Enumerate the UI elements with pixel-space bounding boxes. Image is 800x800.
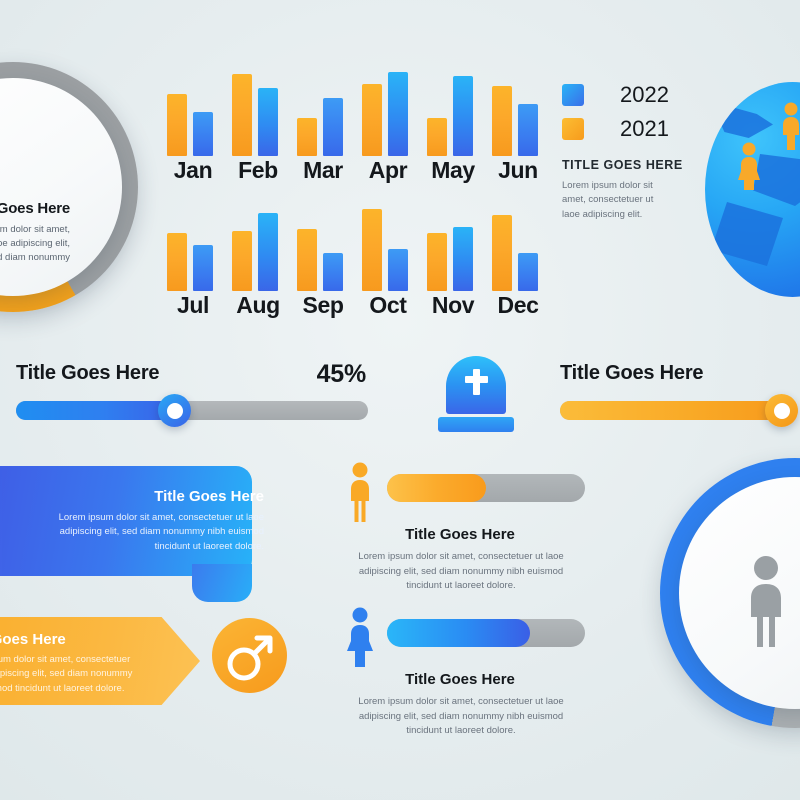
bar-label-aug: Aug <box>230 292 286 319</box>
slider-left-track[interactable] <box>16 401 368 420</box>
bar-2021-feb[interactable] <box>232 74 252 156</box>
bar-pair <box>295 199 351 291</box>
bar-chart-row-first-half: JanFebMarAprMayJun <box>165 62 555 182</box>
tombstone-base <box>438 417 514 432</box>
bar-pair <box>230 64 286 156</box>
legend-label-2021: 2021 <box>620 116 669 142</box>
infographic-canvas: Title Goes Here Lorem ipsum dolor sit am… <box>0 0 800 800</box>
bar-label-nov: Nov <box>425 292 481 319</box>
bar-2022-apr[interactable] <box>388 72 408 156</box>
bar-2022-feb[interactable] <box>258 88 278 156</box>
bar-2021-jul[interactable] <box>167 233 187 291</box>
bar-pair <box>165 64 221 156</box>
bar-pair <box>425 64 481 156</box>
globe-person-2-icon <box>777 102 800 150</box>
slider-left-thumb-dot <box>167 403 183 419</box>
bar-pair <box>425 199 481 291</box>
slider-right-thumb-dot <box>774 403 790 419</box>
bar-2021-mar[interactable] <box>297 118 317 156</box>
progress-bar-female-fill <box>387 619 530 647</box>
slider-right-block: Title Goes Here <box>548 360 798 430</box>
bar-2021-jan[interactable] <box>167 94 187 156</box>
left-donut-paragraph: Lorem ipsum dolor sit amet, consectetuer… <box>0 223 70 264</box>
bar-label-jun: Jun <box>490 157 546 184</box>
globe-person-1-icon <box>735 142 763 190</box>
bar-label-may: May <box>425 157 481 184</box>
bar-group-dec: Dec <box>490 197 546 317</box>
left-donut-chart[interactable]: Title Goes Here Lorem ipsum dolor sit am… <box>0 62 138 312</box>
progress-bar-female-track[interactable] <box>387 619 585 647</box>
slider-right-fill <box>560 401 786 420</box>
blue-banner-paragraph: Lorem ipsum dolor sit amet, consectetuer… <box>48 511 264 554</box>
bar-2021-aug[interactable] <box>232 231 252 291</box>
legend-item-2021[interactable]: 2021 <box>562 112 712 146</box>
legend-heading: TITLE GOES HERE <box>562 158 712 172</box>
bar-label-oct: Oct <box>360 292 416 319</box>
bar-label-sep: Sep <box>295 292 351 319</box>
tombstone-icon <box>438 356 514 432</box>
slider-left-value: 45% <box>317 360 366 389</box>
slider-left-fill <box>16 401 174 420</box>
blue-banner-title: Title Goes Here <box>48 488 264 505</box>
bar-chart-row-second-half: JulAugSepOctNovDec <box>165 197 555 317</box>
bar-group-feb: Feb <box>230 62 286 182</box>
bar-2022-nov[interactable] <box>453 227 473 291</box>
bar-2022-jul[interactable] <box>193 245 213 291</box>
progress-bar-male-fill <box>387 474 486 502</box>
bar-label-jul: Jul <box>165 292 221 319</box>
bar-2022-jun[interactable] <box>518 104 538 156</box>
bar-group-sep: Sep <box>295 197 351 317</box>
slider-left-title: Title Goes Here <box>16 362 159 385</box>
blue-arrow-banner[interactable]: Title Goes Here Lorem ipsum dolor sit am… <box>0 466 282 576</box>
bar-group-aug: Aug <box>230 197 286 317</box>
bar-pair <box>490 199 546 291</box>
bar-2021-oct[interactable] <box>362 209 382 291</box>
bar-pair <box>230 199 286 291</box>
bar-2022-may[interactable] <box>453 76 473 156</box>
bar-2022-oct[interactable] <box>388 249 408 291</box>
bar-2021-may[interactable] <box>427 118 447 156</box>
tombstone-cross-horizontal <box>465 376 488 383</box>
blue-banner-tab <box>192 564 252 602</box>
orange-arrow-banner[interactable]: Title Goes Here Lorem ipsum dolor sit am… <box>0 617 200 705</box>
bar-2022-mar[interactable] <box>323 98 343 156</box>
progress-block-male: Title Goes Here Lorem ipsum dolor sit am… <box>335 462 585 597</box>
legend-copy-block: TITLE GOES HERE Lorem ipsum dolor sit am… <box>562 158 712 222</box>
orange-banner-paragraph: Lorem ipsum dolor sit amet, consectetuer… <box>0 653 136 696</box>
bar-pair <box>490 64 546 156</box>
progress-male-title: Title Goes Here <box>335 526 585 543</box>
bar-2021-jun[interactable] <box>492 86 512 156</box>
bar-group-jun: Jun <box>490 62 546 182</box>
progress-bar-male-track[interactable] <box>387 474 585 502</box>
bar-pair <box>360 199 416 291</box>
progress-female-paragraph: Lorem ipsum dolor sit amet, consectetuer… <box>343 695 579 739</box>
male-figure-icon <box>737 555 795 647</box>
bar-label-apr: Apr <box>360 157 416 184</box>
bar-label-dec: Dec <box>490 292 546 319</box>
left-donut-text: Title Goes Here Lorem ipsum dolor sit am… <box>0 200 70 264</box>
left-donut-title: Title Goes Here <box>0 200 70 217</box>
bar-pair <box>360 64 416 156</box>
bar-group-oct: Oct <box>360 197 416 317</box>
progress-female-title: Title Goes Here <box>335 671 585 688</box>
bar-group-jan: Jan <box>165 62 221 182</box>
bar-2021-apr[interactable] <box>362 84 382 156</box>
progress-male-paragraph: Lorem ipsum dolor sit amet, consectetuer… <box>343 550 579 594</box>
bar-pair <box>165 199 221 291</box>
bar-2021-dec[interactable] <box>492 215 512 291</box>
male-figure-icon <box>343 462 377 522</box>
bar-2022-dec[interactable] <box>518 253 538 291</box>
mars-male-symbol-icon <box>212 618 287 693</box>
legend-item-2022[interactable]: 2022 <box>562 78 712 112</box>
bar-2022-jan[interactable] <box>193 112 213 156</box>
blue-banner-text: Title Goes Here Lorem ipsum dolor sit am… <box>48 488 264 554</box>
orange-banner-text: Title Goes Here Lorem ipsum dolor sit am… <box>0 631 136 696</box>
legend-swatch-orange-icon <box>562 118 584 140</box>
legend-label-2022: 2022 <box>620 82 669 108</box>
bar-2021-nov[interactable] <box>427 233 447 291</box>
bar-group-nov: Nov <box>425 197 481 317</box>
bar-label-feb: Feb <box>230 157 286 184</box>
slider-right-title: Title Goes Here <box>560 362 703 385</box>
bar-group-may: May <box>425 62 481 182</box>
bar-2022-sep[interactable] <box>323 253 343 291</box>
globe-with-people-icon <box>705 82 800 297</box>
slider-right-track[interactable] <box>560 401 798 420</box>
bar-2021-sep[interactable] <box>297 229 317 291</box>
bar-group-mar: Mar <box>295 62 351 182</box>
progress-block-female: Title Goes Here Lorem ipsum dolor sit am… <box>335 607 585 742</box>
bar-label-jan: Jan <box>165 157 221 184</box>
right-donut-chart[interactable] <box>660 458 800 728</box>
bar-2022-aug[interactable] <box>258 213 278 291</box>
bar-group-jul: Jul <box>165 197 221 317</box>
slider-left-block: Title Goes Here 45% <box>8 360 368 430</box>
slider-left-thumb[interactable] <box>158 394 191 427</box>
legend-swatch-blue-icon <box>562 84 584 106</box>
bar-label-mar: Mar <box>295 157 351 184</box>
legend-paragraph: Lorem ipsum dolor sit amet, consectetuer… <box>562 179 672 222</box>
female-figure-icon <box>343 607 377 667</box>
monthly-bar-chart: JanFebMarAprMayJun JulAugSepOctNovDec <box>165 62 555 307</box>
slider-right-thumb[interactable] <box>765 394 798 427</box>
bar-group-apr: Apr <box>360 62 416 182</box>
orange-banner-title: Title Goes Here <box>0 631 136 648</box>
chart-legend: 2022 2021 TITLE GOES HERE Lorem ipsum do… <box>562 78 712 222</box>
bar-pair <box>295 64 351 156</box>
blue-banner-notch <box>0 466 2 576</box>
